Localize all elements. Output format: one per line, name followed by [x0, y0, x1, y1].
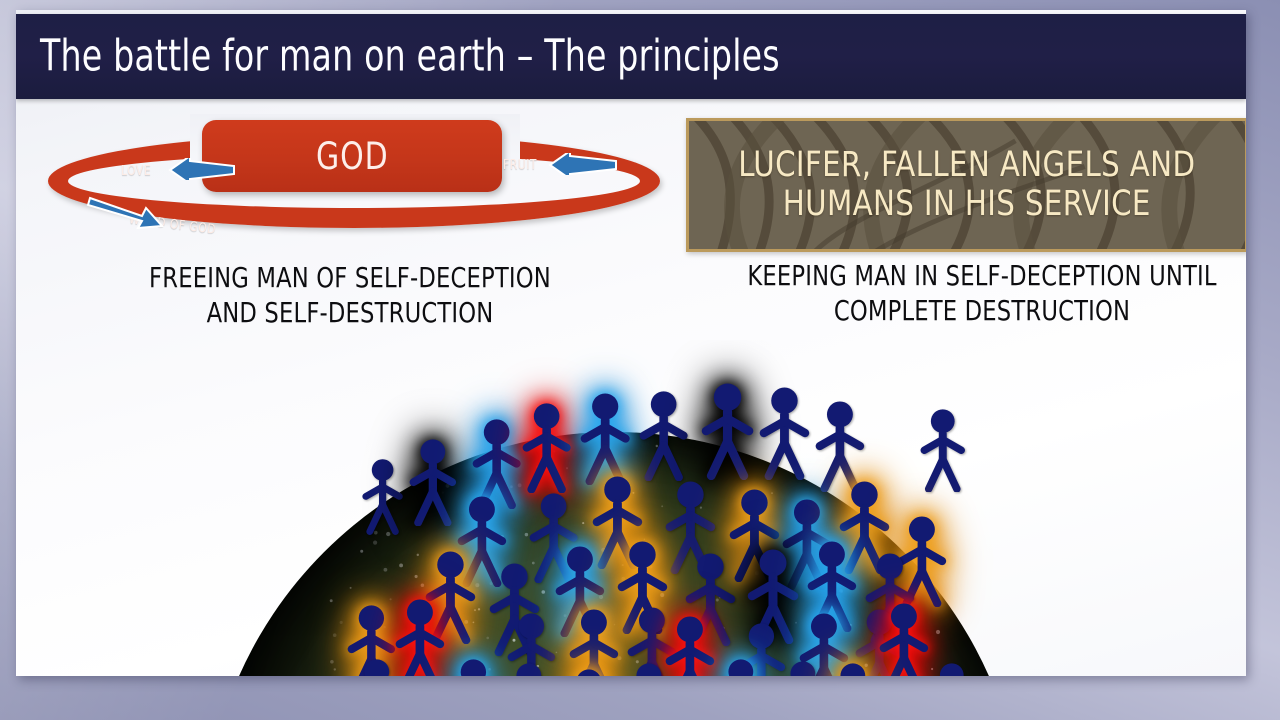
- stick-figure: [579, 392, 631, 485]
- stick-figure: [814, 400, 866, 492]
- arrow-left-fruit-icon: [548, 153, 618, 180]
- stick-figure: [778, 660, 828, 676]
- stick-figure: [564, 668, 614, 676]
- god-cycle-diagram: GOD LOVE WORD OF GOD FRUIT: [40, 120, 670, 240]
- lucifer-line-1: LUCIFER, FALLEN ANGELS AND: [738, 146, 1195, 185]
- stick-figure: [758, 386, 811, 480]
- stick-figure: [361, 458, 404, 535]
- stick-figure: [352, 658, 402, 676]
- slide-title-bar: The battle for man on earth – The princi…: [16, 14, 1246, 99]
- slide-outer-frame: The battle for man on earth – The princi…: [0, 0, 1280, 720]
- stick-figure: [394, 598, 446, 676]
- stick-figure: [700, 382, 755, 480]
- stick-figure: [568, 608, 620, 676]
- god-label-box: GOD: [202, 120, 502, 192]
- stick-figure: [448, 658, 499, 676]
- left-caption: FREEING MAN OF SELF-DECEPTION AND SELF-D…: [80, 260, 620, 330]
- cycle-label-fruit: FRUIT: [503, 158, 537, 173]
- stick-figure: [928, 662, 976, 676]
- god-label: GOD: [316, 135, 389, 178]
- arrow-right-word-of-god-icon: [86, 196, 164, 235]
- lucifer-panel-text: LUCIFER, FALLEN ANGELS AND HUMANS IN HIS…: [721, 146, 1213, 224]
- stick-figure: [919, 408, 967, 492]
- page-title-text: The battle for man on earth – The princi…: [40, 30, 780, 81]
- right-caption-line-1: KEEPING MAN IN SELF-DECEPTION UNTIL: [730, 258, 1234, 293]
- lucifer-panel: LUCIFER, FALLEN ANGELS AND HUMANS IN HIS…: [686, 118, 1246, 252]
- earth-illustration: [16, 340, 1246, 676]
- lucifer-line-2: HUMANS IN HIS SERVICE: [738, 185, 1195, 224]
- stick-figure: [408, 438, 458, 526]
- right-caption: KEEPING MAN IN SELF-DECEPTION UNTIL COMP…: [702, 258, 1246, 328]
- stick-figure: [504, 662, 554, 676]
- left-caption-line-1: FREEING MAN OF SELF-DECEPTION: [107, 260, 593, 295]
- stick-figure: [638, 390, 689, 481]
- stick-figure: [716, 658, 766, 676]
- page-title: The battle for man on earth – The princi…: [40, 30, 921, 81]
- arrow-left-love-icon: [168, 158, 236, 185]
- right-caption-line-2: COMPLETE DESTRUCTION: [730, 293, 1234, 328]
- cycle-label-love: LOVE: [121, 164, 151, 179]
- stick-figure: [624, 662, 674, 676]
- presentation-slide: The battle for man on earth – The princi…: [16, 10, 1246, 676]
- stick-figure: [878, 602, 930, 676]
- left-caption-line-2: AND SELF-DESTRUCTION: [107, 295, 593, 330]
- stick-figure-crowd: [16, 340, 1246, 676]
- stick-figure: [828, 662, 878, 676]
- stick-figure: [521, 402, 572, 493]
